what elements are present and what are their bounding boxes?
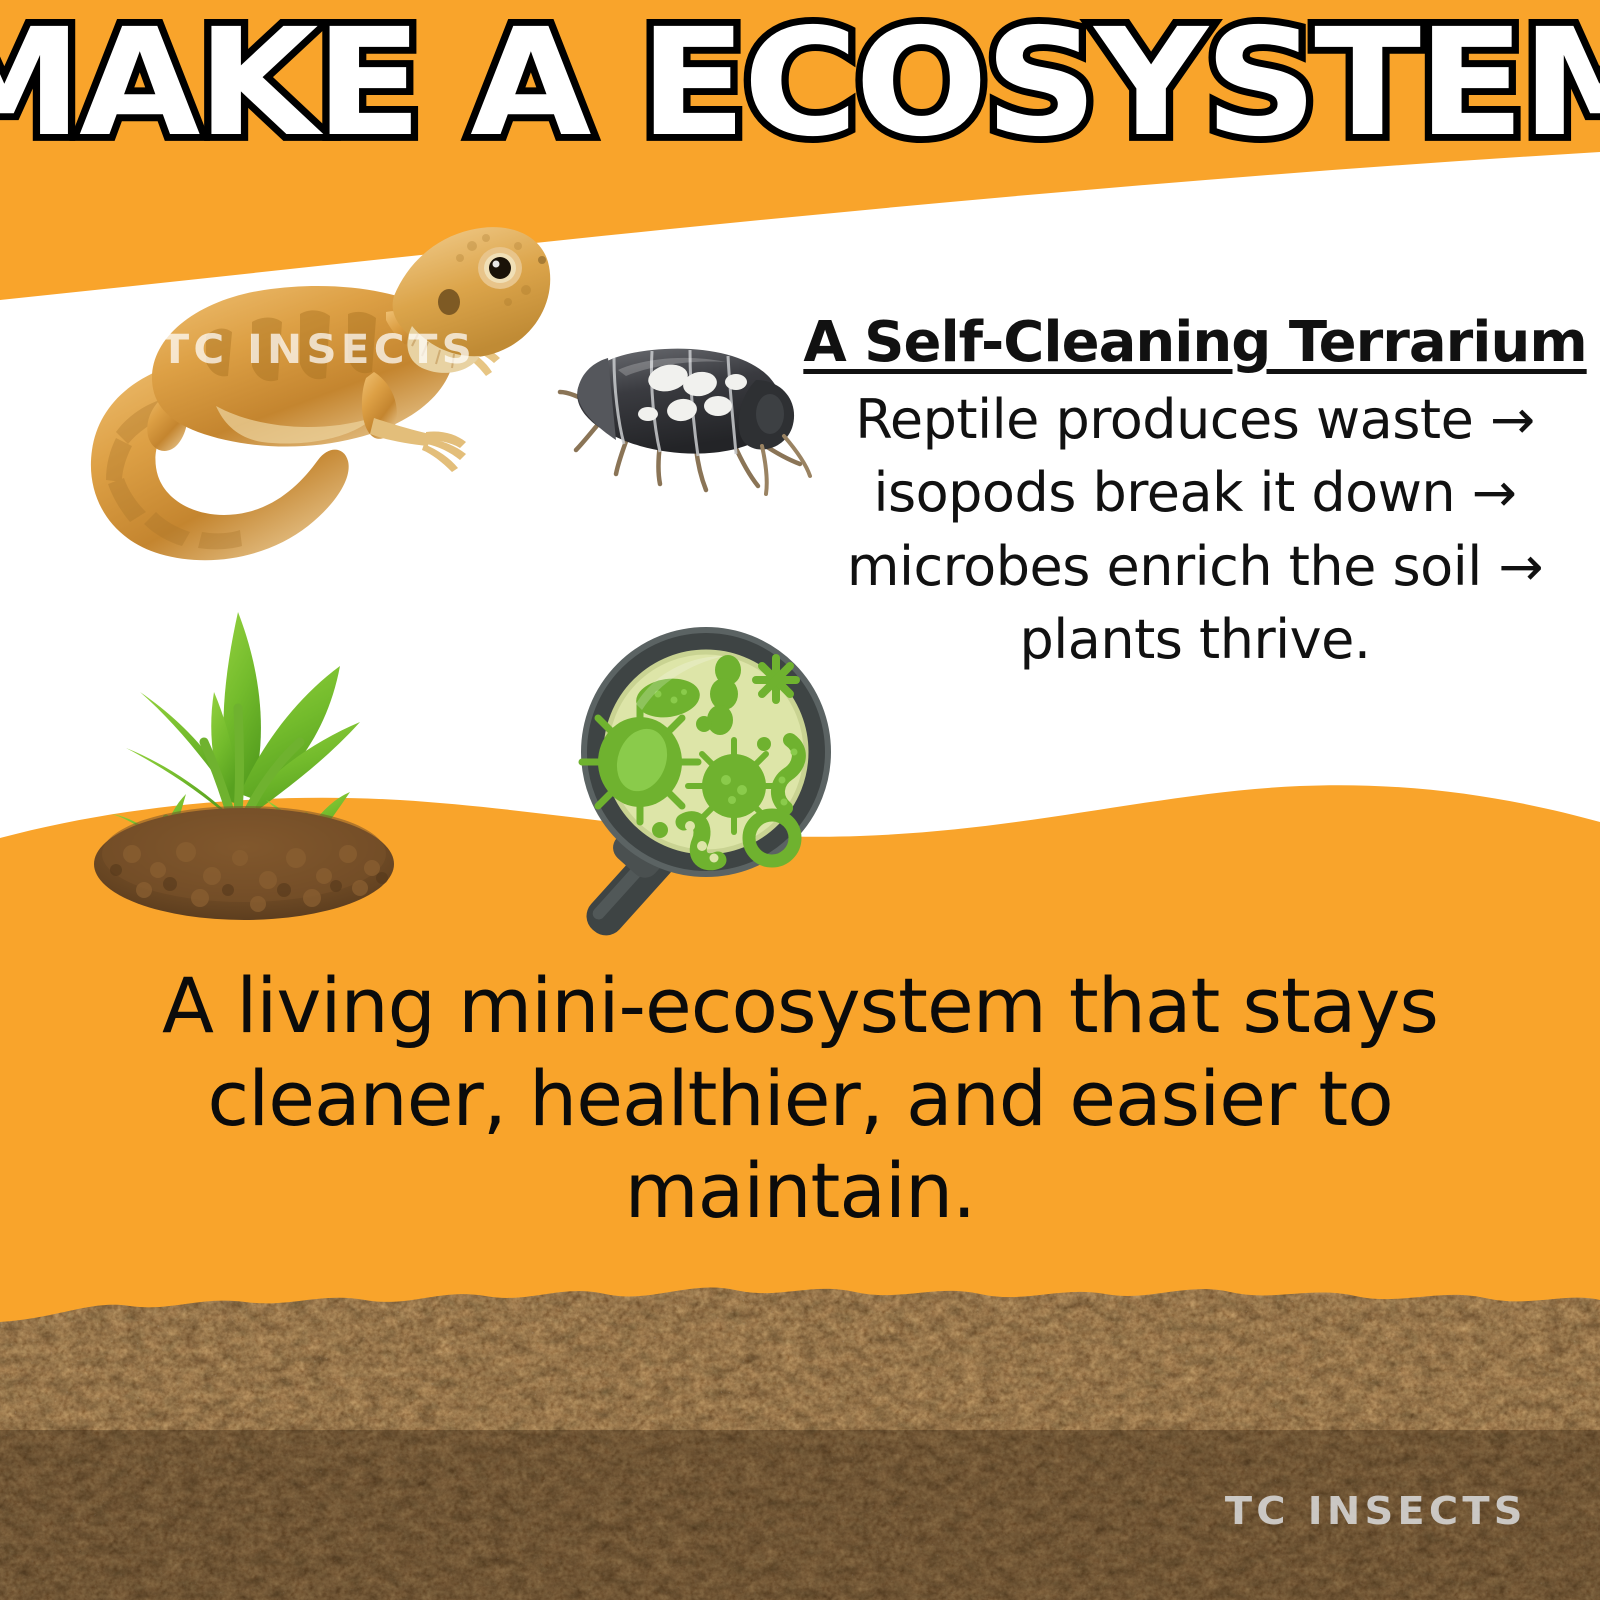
- body-line-3: microbes enrich the soil →: [800, 530, 1590, 603]
- lizard-illustration: [91, 227, 550, 560]
- text-body: Reptile produces waste → isopods break i…: [800, 383, 1590, 677]
- title-container: MAKE A ECOSYSTEM: [0, 10, 1600, 150]
- caption-line-3: maintain.: [90, 1145, 1510, 1238]
- caption-line-2: cleaner, healthier, and easier to: [90, 1053, 1510, 1146]
- bottom-caption: A living mini-ecosystem that stays clean…: [90, 960, 1510, 1238]
- text-heading: A Self-Cleaning Terrarium: [800, 312, 1590, 375]
- body-line-4: plants thrive.: [800, 603, 1590, 676]
- body-line-2: isopods break it down →: [800, 456, 1590, 529]
- plant-illustration: [94, 612, 394, 920]
- magnifier-illustration: [579, 630, 828, 943]
- poster-canvas: MAKE A ECOSYSTEM: [0, 0, 1600, 1600]
- body-line-1: Reptile produces waste →: [800, 383, 1590, 456]
- isopod-illustration: [560, 349, 810, 494]
- watermark-bottom: TC INSECTS: [1225, 1489, 1527, 1533]
- caption-line-1: A living mini-ecosystem that stays: [90, 960, 1510, 1053]
- plant-in-soil: [72, 596, 422, 926]
- magnifying-glass-microbes: [528, 612, 838, 952]
- watermark-top: TC INSECTS: [160, 327, 476, 373]
- isopod-bug: [548, 318, 818, 548]
- page-title: MAKE A ECOSYSTEM: [0, 10, 1600, 158]
- terrarium-text-block: A Self-Cleaning Terrarium Reptile produc…: [800, 312, 1590, 676]
